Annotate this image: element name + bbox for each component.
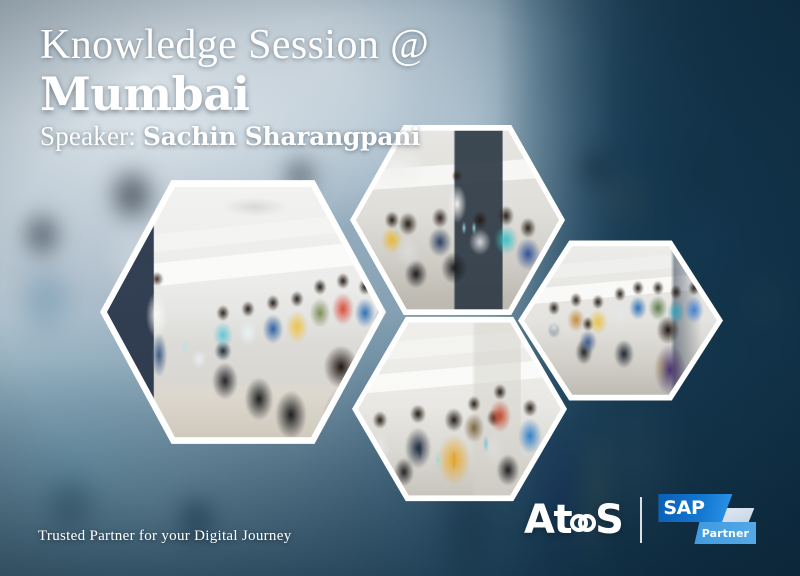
sap-partner-label: Partner	[702, 527, 749, 540]
atos-interlocked-o-icon	[570, 511, 596, 537]
headline-line-1: Knowledge Session @	[40, 24, 429, 68]
speaker-name: Sachin Sharangpani	[143, 122, 420, 151]
photo-room-people	[356, 128, 559, 312]
poster-canvas: Knowledge Session @ Mumbai Speaker: Sach…	[0, 0, 800, 576]
tagline: Trusted Partner for your Digital Journey	[38, 528, 292, 545]
photo-room-people	[358, 320, 561, 498]
atos-logo-text-part2: S	[595, 500, 622, 540]
headline-line-2: Mumbai	[40, 70, 429, 118]
headline-block: Knowledge Session @ Mumbai Speaker: Sach…	[40, 24, 429, 152]
sap-partner-band: Partner	[694, 522, 756, 544]
logo-divider	[640, 497, 642, 543]
sap-partner-logo: SAP Partner	[658, 494, 756, 546]
hex-photo-bottom-center-clip	[358, 320, 561, 498]
speaker-label: Speaker:	[40, 121, 136, 151]
atos-logo-text-part1: At	[524, 500, 571, 540]
atos-logo: At S	[524, 500, 622, 540]
sap-logo-box: SAP	[658, 494, 732, 522]
photo-room-people	[524, 244, 717, 397]
logo-row: At S SAP Partner	[524, 494, 756, 546]
sap-logo-text: SAP	[658, 497, 704, 519]
speaker-line: Speaker: Sachin Sharangpani	[40, 122, 429, 152]
hex-photo-right-clip	[524, 244, 717, 397]
hex-photo-top-center-clip	[356, 128, 559, 312]
